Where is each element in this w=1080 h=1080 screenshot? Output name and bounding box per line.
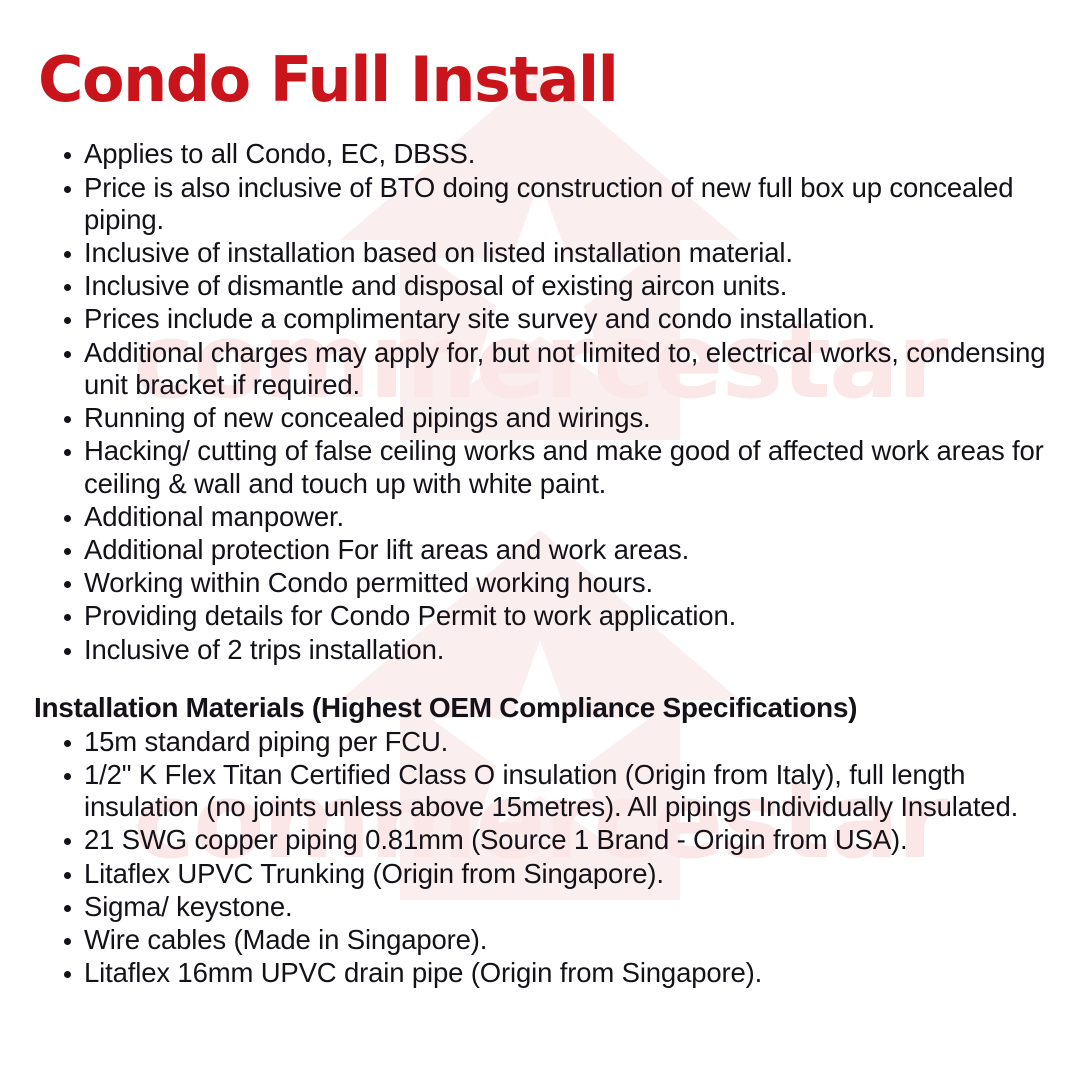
- list-item: Sigma/ keystone.: [34, 891, 1050, 923]
- list-item: Wire cables (Made in Singapore).: [34, 924, 1050, 956]
- list-item: Additional manpower.: [34, 501, 1050, 533]
- list-item: Litaflex UPVC Trunking (Origin from Sing…: [34, 858, 1050, 890]
- page-title: Condo Full Install: [38, 48, 1050, 112]
- scope-list: Applies to all Condo, EC, DBSS. Price is…: [34, 138, 1050, 665]
- list-item: Hacking/ cutting of false ceiling works …: [34, 435, 1050, 499]
- list-item: Inclusive of installation based on liste…: [34, 237, 1050, 269]
- list-item: Additional protection For lift areas and…: [34, 534, 1050, 566]
- list-item: Working within Condo permitted working h…: [34, 567, 1050, 599]
- document-page: commercestar commercestar Condo Full Ins…: [0, 0, 1080, 1080]
- document-content: Condo Full Install Applies to all Condo,…: [0, 0, 1080, 989]
- list-item: Inclusive of dismantle and disposal of e…: [34, 270, 1050, 302]
- materials-list: 15m standard piping per FCU. 1/2" K Flex…: [34, 726, 1050, 990]
- list-item: 15m standard piping per FCU.: [34, 726, 1050, 758]
- list-item: Prices include a complimentary site surv…: [34, 303, 1050, 335]
- list-item: Applies to all Condo, EC, DBSS.: [34, 138, 1050, 170]
- materials-section-heading: Installation Materials (Highest OEM Comp…: [34, 692, 1050, 724]
- list-item: 1/2" K Flex Titan Certified Class O insu…: [34, 759, 1050, 823]
- list-item: 21 SWG copper piping 0.81mm (Source 1 Br…: [34, 824, 1050, 856]
- list-item: Running of new concealed pipings and wir…: [34, 402, 1050, 434]
- list-item: Additional charges may apply for, but no…: [34, 337, 1050, 401]
- list-item: Providing details for Condo Permit to wo…: [34, 600, 1050, 632]
- list-item: Litaflex 16mm UPVC drain pipe (Origin fr…: [34, 957, 1050, 989]
- list-item: Price is also inclusive of BTO doing con…: [34, 172, 1050, 236]
- list-item: Inclusive of 2 trips installation.: [34, 634, 1050, 666]
